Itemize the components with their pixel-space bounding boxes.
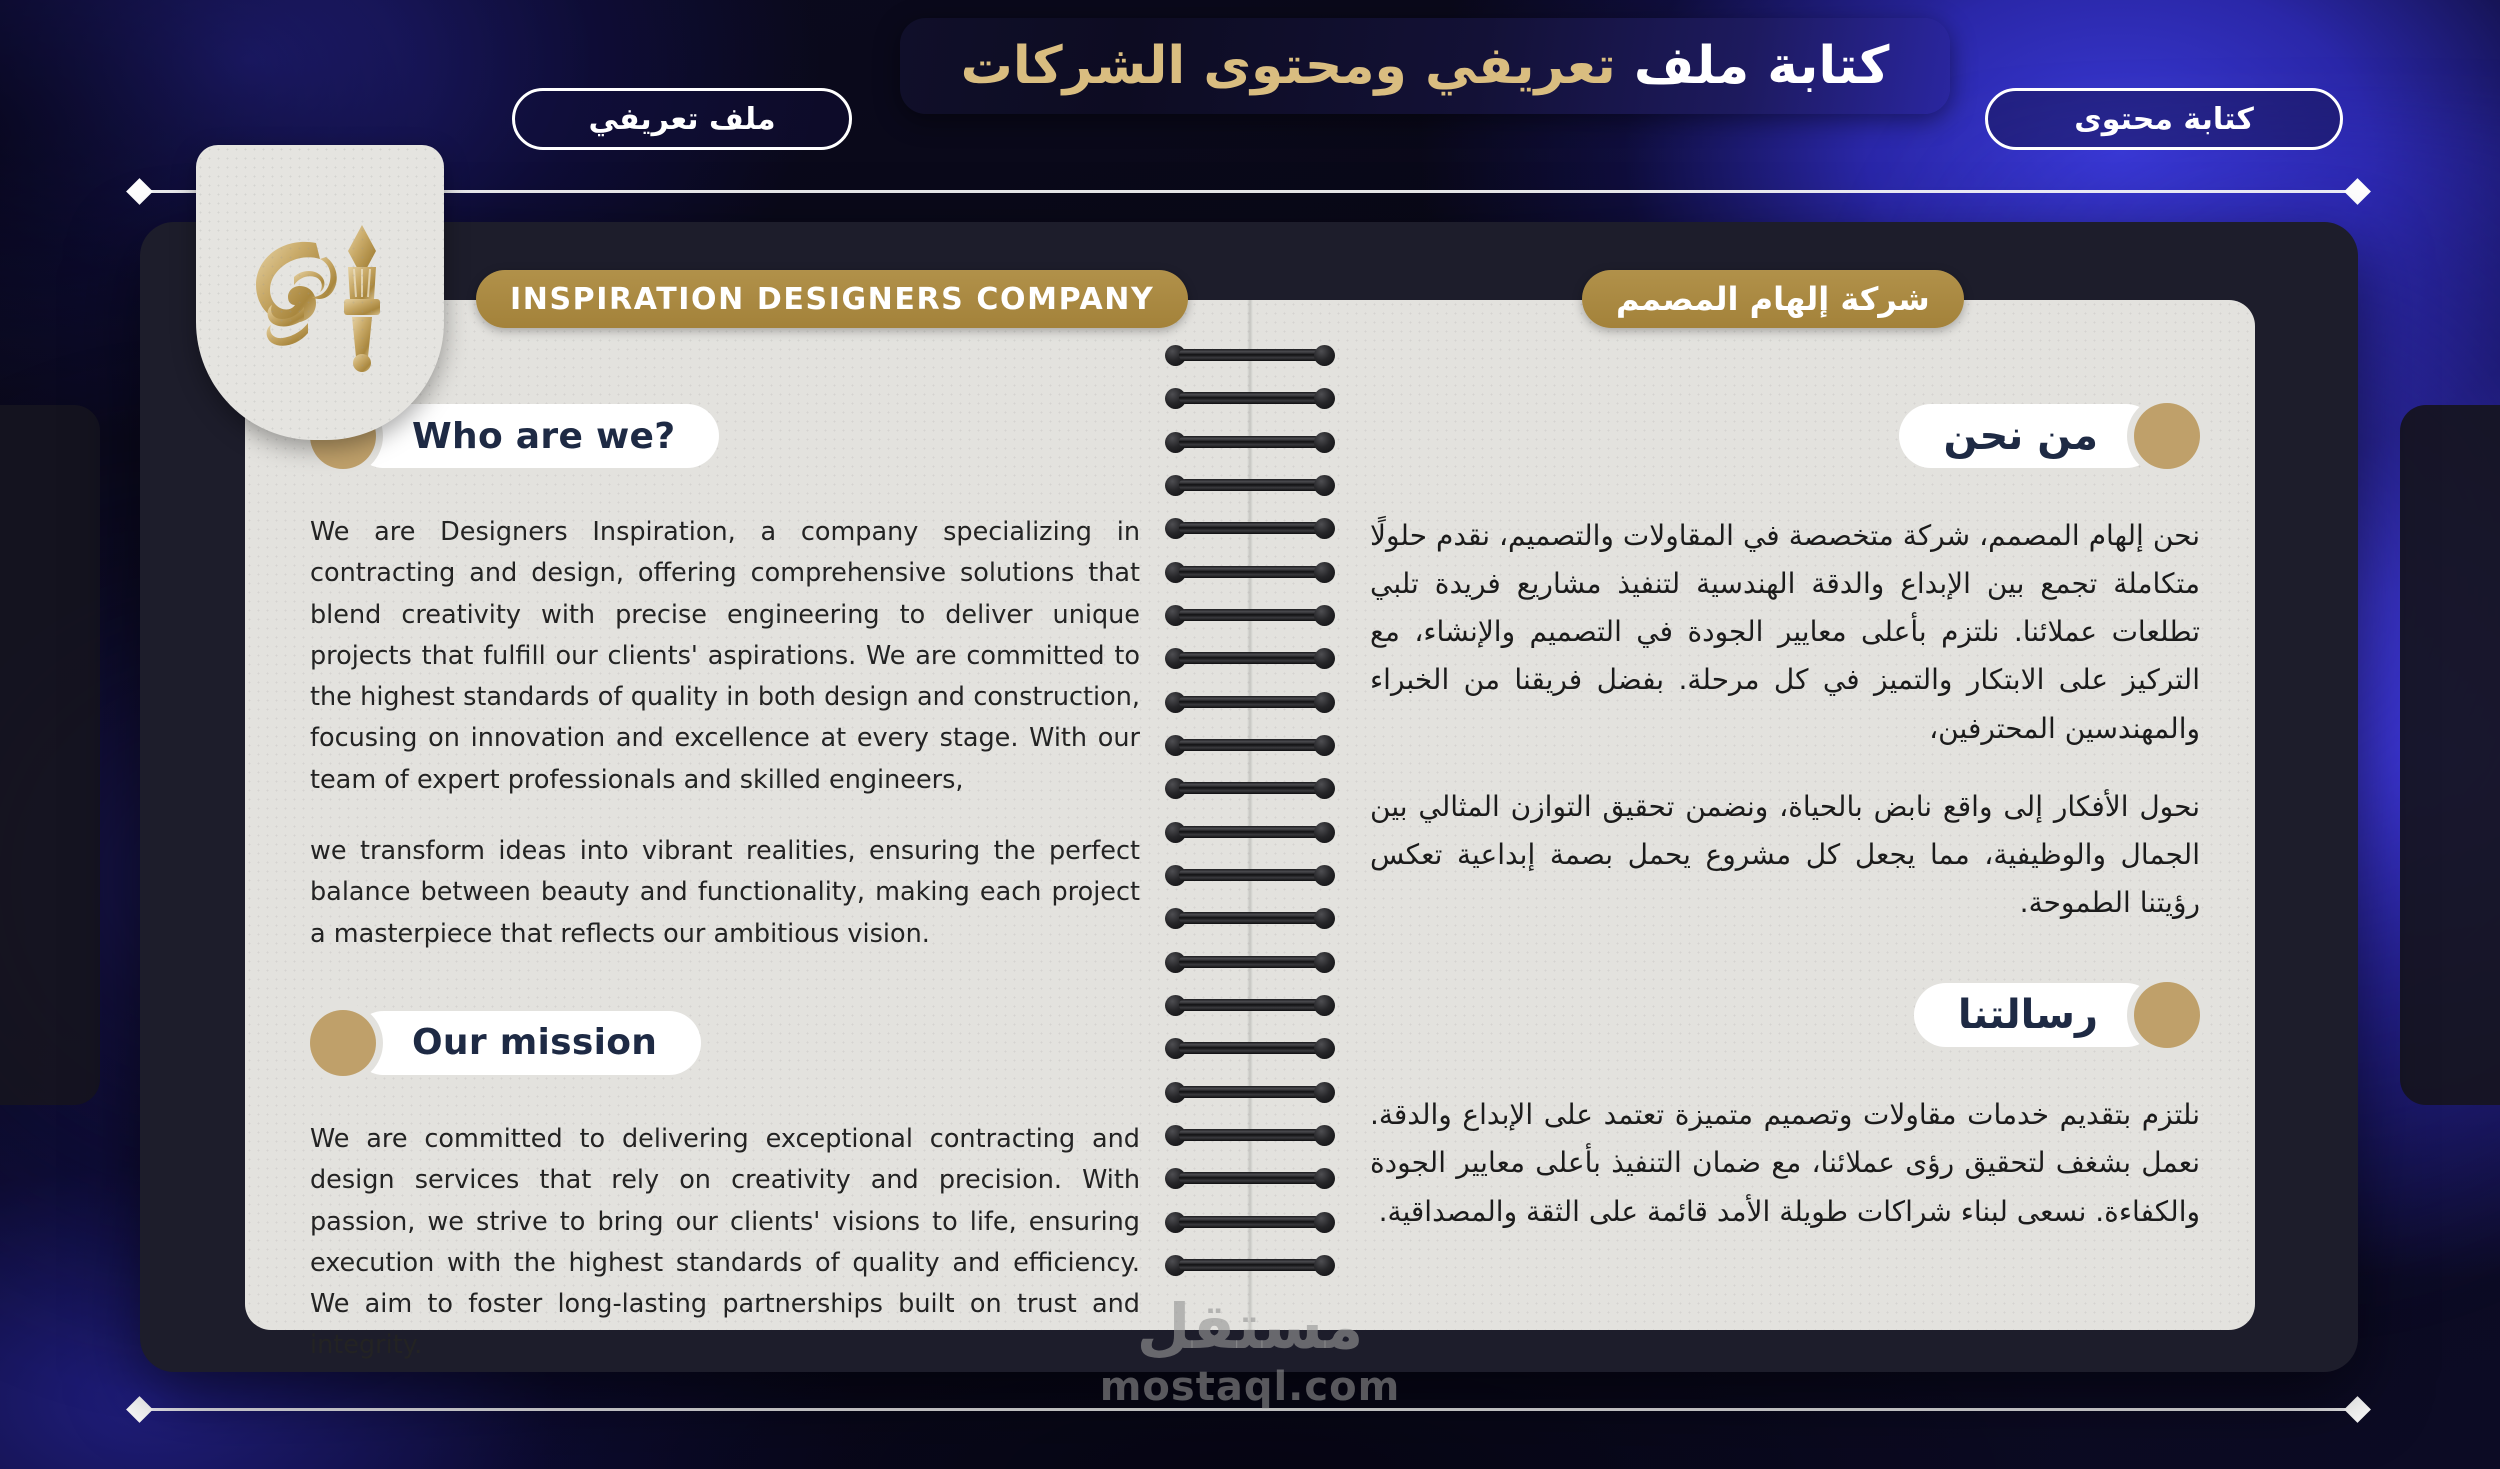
section-heading-our-mission: Our mission [310,1007,1140,1079]
background-panel-right [2400,405,2500,1105]
page-title-white: كتابة ملف [1634,36,1890,96]
paragraph-who-are-we-1: We are Designers Inspiration, a company … [310,512,1140,801]
spiral-ring [1165,388,1335,408]
spiral-ring [1165,692,1335,712]
bullet-circle-icon [310,1010,376,1076]
paragraph-risalatuna-1: نلتزم بتقديم خدمات مقاولات وتصميم متميزة… [1370,1091,2200,1235]
logo-bookmark [196,145,444,440]
spiral-ring [1165,1255,1335,1275]
page-title: كتابة ملف تعريفي ومحتوى الشركات [961,36,1890,96]
spiral-ring [1165,605,1335,625]
spiral-ring [1165,908,1335,928]
paragraph-who-are-we-2: we transform ideas into vibrant realitie… [310,831,1140,955]
paragraph-our-mission-1: We are committed to delivering exception… [310,1119,1140,1367]
section-heading-label: من نحن [1899,404,2158,468]
spiral-ring [1165,475,1335,495]
frame-line-top [148,190,2348,193]
page-title-gold: تعريفي ومحتوى الشركات [961,36,1616,96]
background-panel-left [0,405,100,1105]
section-heading-label: Our mission [352,1011,701,1075]
spiral-binding [1165,345,1335,1275]
spiral-ring [1165,518,1335,538]
spiral-ring [1165,778,1335,798]
tag-content-writing-pill[interactable]: كتابة محتوى [1985,88,2343,150]
badge-company-name-arabic: شركة إلهام المصمم [1582,270,1964,328]
spiral-ring [1165,1125,1335,1145]
section-heading-risalatuna: رسالتنا [1370,979,2200,1051]
spiral-ring [1165,562,1335,582]
bullet-circle-icon [2134,982,2200,1048]
poster-canvas: كتابة ملف تعريفي ومحتوى الشركات ملف تعري… [0,0,2500,1469]
spiral-ring [1165,345,1335,365]
main-title-plate: كتابة ملف تعريفي ومحتوى الشركات [900,18,1950,114]
spiral-ring [1165,1168,1335,1188]
spiral-ring [1165,1212,1335,1232]
spiral-ring [1165,648,1335,668]
frame-line-bottom [148,1408,2348,1411]
spiral-ring [1165,432,1335,452]
section-heading-man-nahnu: من نحن [1370,400,2200,472]
spiral-ring [1165,822,1335,842]
spiral-ring [1165,1038,1335,1058]
tag-profile-pill[interactable]: ملف تعريفي [512,88,852,150]
spiral-ring [1165,735,1335,755]
english-column: Who are we? We are Designers Inspiration… [310,400,1140,1367]
spiral-ring [1165,865,1335,885]
spiral-ring [1165,1082,1335,1102]
ornament-paintbrush-logo-icon [232,207,408,383]
spiral-ring [1165,952,1335,972]
spiral-ring [1165,995,1335,1015]
section-heading-label: رسالتنا [1914,983,2158,1047]
paragraph-man-nahnu-1: نحن إلهام المصمم، شركة متخصصة في المقاول… [1370,512,2200,753]
badge-company-name-english: INSPIRATION DESIGNERS COMPANY [476,270,1188,328]
bullet-circle-icon [2134,403,2200,469]
paragraph-man-nahnu-2: نحول الأفكار إلى واقع نابض بالحياة، ونضم… [1370,783,2200,927]
arabic-column: من نحن نحن إلهام المصمم، شركة متخصصة في … [1370,400,2200,1236]
